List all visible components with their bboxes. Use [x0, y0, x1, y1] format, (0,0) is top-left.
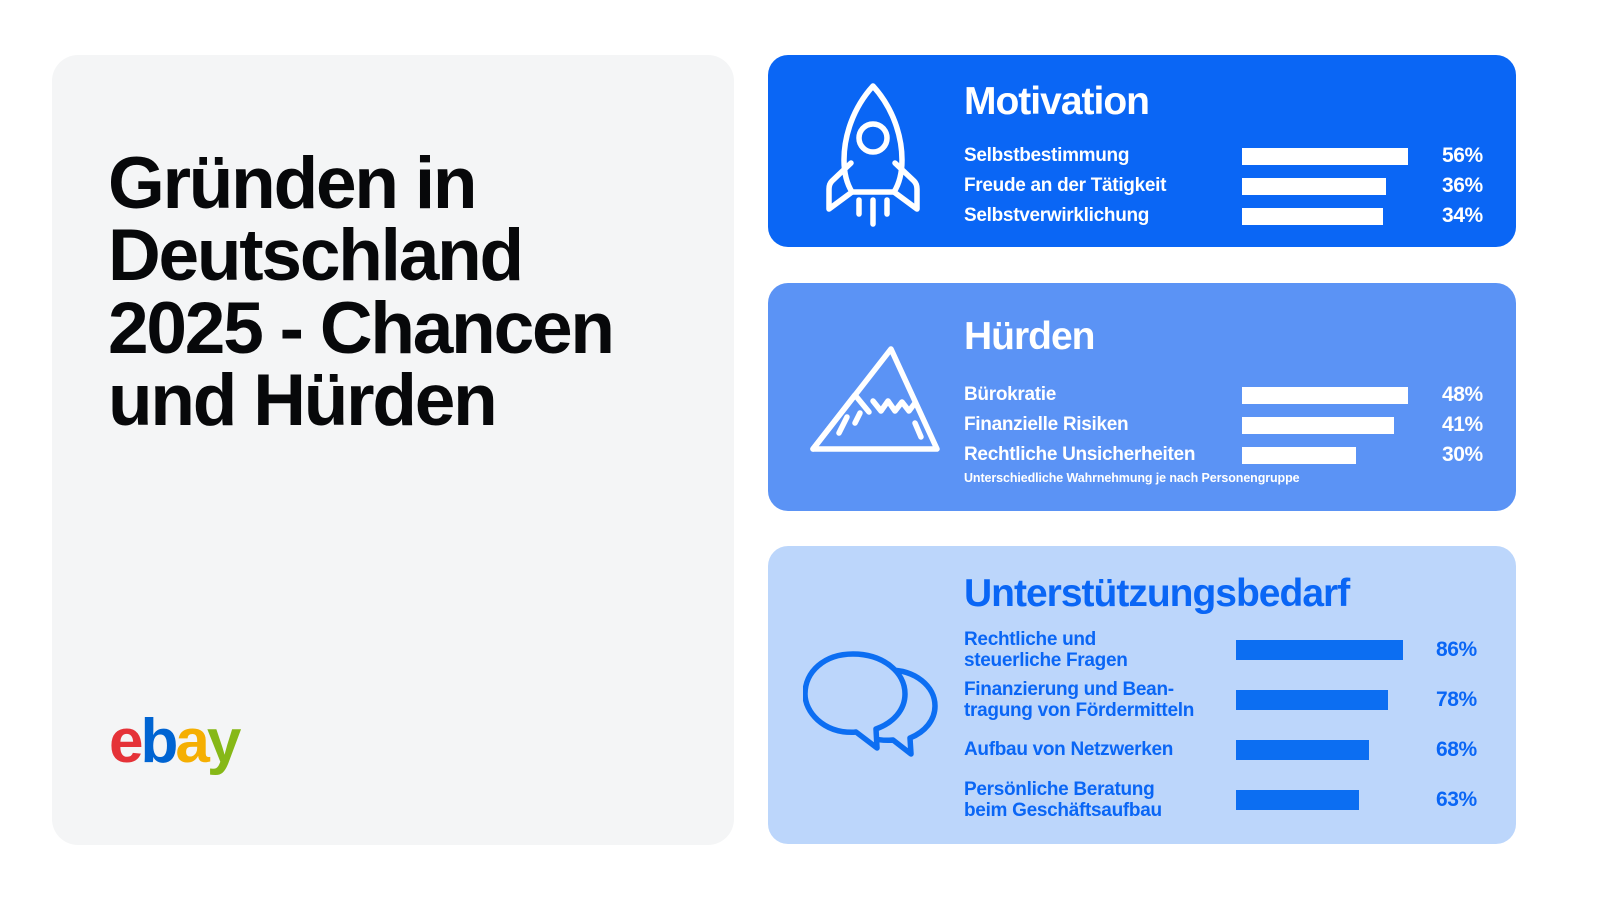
card-huerden-note: Unterschiedliche Wahrnehmung je nach Per… — [964, 471, 1299, 485]
stat-row: Finanzierung und Bean-tragung von Förder… — [964, 675, 1496, 725]
ebay-logo-letter-b: b — [140, 707, 175, 776]
stat-value: 36% — [1442, 174, 1483, 198]
stat-bar-track — [1242, 417, 1424, 434]
stat-bar-track — [1242, 447, 1424, 464]
stat-value: 48% — [1442, 383, 1483, 407]
stat-label: Finanzierung und Bean-tragung von Förder… — [964, 679, 1236, 722]
stat-value: 63% — [1436, 788, 1477, 812]
card-motivation-rows: Selbstbestimmung 56% Freude an der Tätig… — [964, 141, 1496, 231]
stat-bar-fill — [1242, 387, 1408, 404]
stat-bar-track — [1236, 740, 1418, 760]
stat-bar-fill — [1236, 640, 1403, 660]
stat-bar-fill — [1242, 208, 1383, 225]
stat-bar-track — [1236, 790, 1418, 810]
stat-value: 56% — [1442, 144, 1483, 168]
stat-bar-fill — [1236, 740, 1369, 760]
card-motivation-body: Motivation Selbstbestimmung 56% Freude a… — [964, 55, 1496, 247]
stat-bar-track — [1242, 387, 1424, 404]
stat-value: 86% — [1436, 638, 1477, 662]
ebay-logo-letter-e: e — [109, 707, 140, 776]
stat-value: 78% — [1436, 688, 1477, 712]
stat-bar-fill — [1236, 790, 1359, 810]
card-support-title: Unterstützungsbedarf — [964, 572, 1349, 616]
stat-row: Bürokratie 48% — [964, 380, 1496, 410]
stat-value: 68% — [1436, 738, 1477, 762]
stat-label: Selbstbestimmung — [964, 145, 1242, 166]
card-support-body: Unterstützungsbedarf Rechtliche undsteue… — [964, 546, 1496, 844]
card-motivation-title: Motivation — [964, 80, 1149, 124]
stat-label: Selbstverwirklichung — [964, 205, 1242, 226]
stat-bar-fill — [1242, 447, 1356, 464]
headline-line-2: Deutschland — [108, 220, 718, 292]
stat-label: Freude an der Tätigkeit — [964, 175, 1242, 196]
stat-value: 34% — [1442, 204, 1483, 228]
stat-bar-track — [1242, 178, 1424, 195]
mountain-icon — [798, 325, 948, 475]
stat-label: Rechtliche undsteuerliche Fragen — [964, 629, 1236, 672]
ebay-logo-letter-y: y — [207, 707, 238, 776]
stat-label: Bürokratie — [964, 384, 1242, 405]
ebay-logo: ebay — [109, 711, 238, 773]
ebay-logo-letter-a: a — [175, 707, 206, 776]
stat-bar-fill — [1242, 417, 1394, 434]
stat-bar-fill — [1242, 178, 1386, 195]
rocket-icon — [798, 69, 948, 239]
stat-row: Selbstverwirklichung 34% — [964, 201, 1496, 231]
speech-bubbles-icon — [798, 624, 948, 774]
stat-label: Finanzielle Risiken — [964, 414, 1242, 435]
card-motivation: Motivation Selbstbestimmung 56% Freude a… — [768, 55, 1516, 247]
stat-bar-fill — [1236, 690, 1388, 710]
infographic-canvas: Gründen in Deutschland 2025 - Chancen un… — [0, 0, 1600, 900]
stat-bar-track — [1236, 690, 1418, 710]
stat-row: Rechtliche undsteuerliche Fragen 86% — [964, 625, 1496, 675]
title-panel: Gründen in Deutschland 2025 - Chancen un… — [52, 55, 734, 845]
stat-row: Selbstbestimmung 56% — [964, 141, 1496, 171]
stat-row: Freude an der Tätigkeit 36% — [964, 171, 1496, 201]
stat-value: 30% — [1442, 443, 1483, 467]
headline-line-4: und Hürden — [108, 365, 718, 437]
stat-row: Aufbau von Netzwerken 68% — [964, 725, 1496, 775]
card-huerden: Hürden Bürokratie 48% Finanzielle Risike… — [768, 283, 1516, 511]
stat-label: Rechtliche Unsicherheiten — [964, 444, 1242, 465]
headline-line-1: Gründen in — [108, 148, 718, 220]
card-huerden-rows: Bürokratie 48% Finanzielle Risiken 41% R… — [964, 380, 1496, 470]
stat-bar-track — [1242, 148, 1424, 165]
card-support-rows: Rechtliche undsteuerliche Fragen 86% Fin… — [964, 625, 1496, 825]
stat-label: Persönliche Beratungbeim Geschäftsaufbau — [964, 779, 1236, 822]
headline-line-3: 2025 - Chancen — [108, 293, 718, 365]
page-title: Gründen in Deutschland 2025 - Chancen un… — [108, 148, 718, 437]
stat-row: Rechtliche Unsicherheiten 30% — [964, 440, 1496, 470]
stat-bar-track — [1242, 208, 1424, 225]
stat-label: Aufbau von Netzwerken — [964, 739, 1236, 760]
card-support: Unterstützungsbedarf Rechtliche undsteue… — [768, 546, 1516, 844]
stat-row: Persönliche Beratungbeim Geschäftsaufbau… — [964, 775, 1496, 825]
stat-bar-fill — [1242, 148, 1408, 165]
card-huerden-title: Hürden — [964, 315, 1095, 359]
stat-row: Finanzielle Risiken 41% — [964, 410, 1496, 440]
stat-value: 41% — [1442, 413, 1483, 437]
stat-bar-track — [1236, 640, 1418, 660]
